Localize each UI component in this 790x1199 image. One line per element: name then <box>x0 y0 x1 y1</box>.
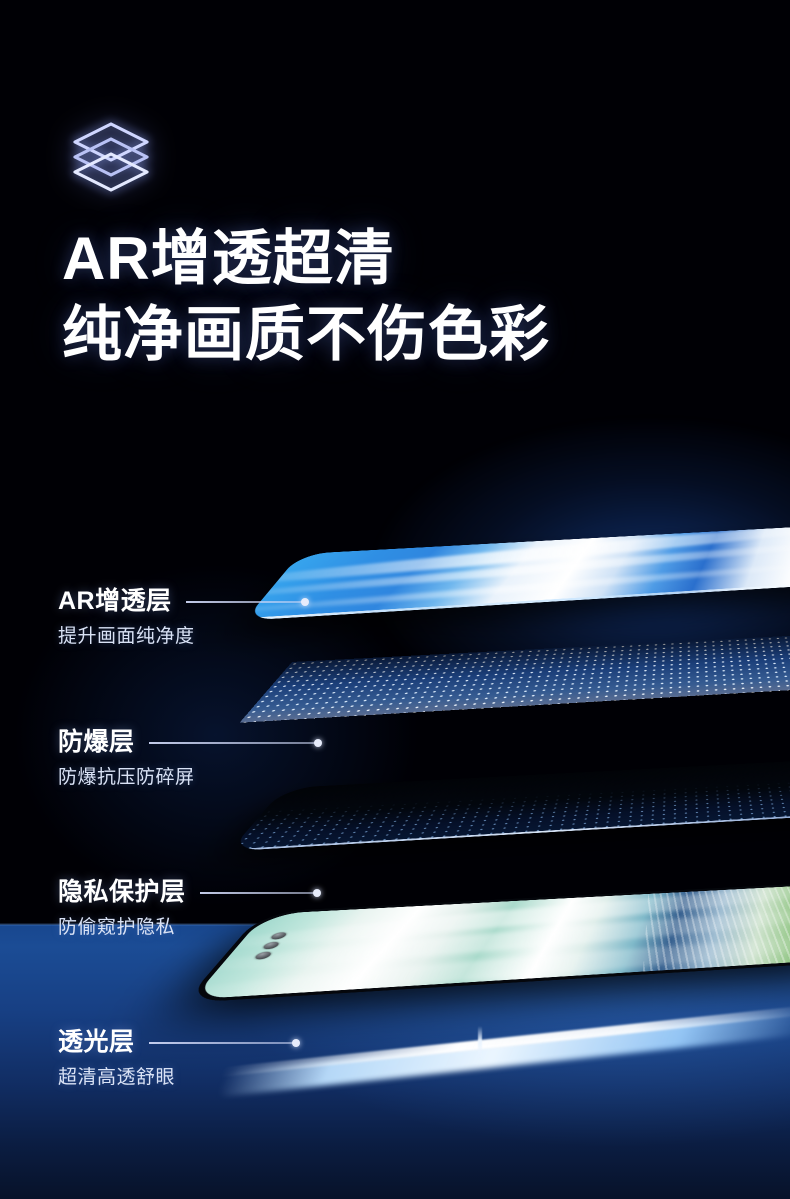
callout-title: 透光层 <box>58 1026 135 1058</box>
callout-title: 隐私保护层 <box>58 876 186 908</box>
leader-line <box>149 742 319 744</box>
wallpaper-stripes <box>643 885 790 972</box>
mesh-shading <box>240 634 790 722</box>
leader-line <box>186 601 306 603</box>
callout-light-transmission-layer: 透光层 超清高透舒眼 <box>58 1026 297 1090</box>
callout-subtitle: 防爆抗压防碎屏 <box>58 765 319 790</box>
product-feature-page: AR增透超清 纯净画质不伤色彩 <box>0 0 790 1199</box>
callout-anti-shatter-layer: 防爆层 防爆抗压防碎屏 <box>58 726 319 790</box>
callout-title: 防爆层 <box>58 726 135 758</box>
callout-privacy-layer: 隐私保护层 防偷窥护隐私 <box>58 876 318 940</box>
callout-subtitle: 防偷窥护隐私 <box>58 915 318 940</box>
leader-line <box>149 1042 297 1044</box>
callout-ar-coating-layer: AR增透层 提升画面纯净度 <box>58 585 306 649</box>
callout-subtitle: 提升画面纯净度 <box>58 624 306 649</box>
callout-subtitle: 超清高透舒眼 <box>58 1065 297 1090</box>
ar-coating-layer-panel <box>244 526 790 621</box>
anti-shatter-layer-panel <box>240 634 790 722</box>
leader-line <box>200 892 318 894</box>
callout-title: AR增透层 <box>58 585 172 617</box>
stacked-layers-icon <box>68 118 154 194</box>
page-title: AR增透超清 纯净画质不伤色彩 <box>62 222 762 372</box>
phone-glow-accent <box>478 1026 482 1060</box>
headline-line-1: AR增透超清 <box>62 222 762 296</box>
headline-line-2: 纯净画质不伤色彩 <box>62 298 762 372</box>
